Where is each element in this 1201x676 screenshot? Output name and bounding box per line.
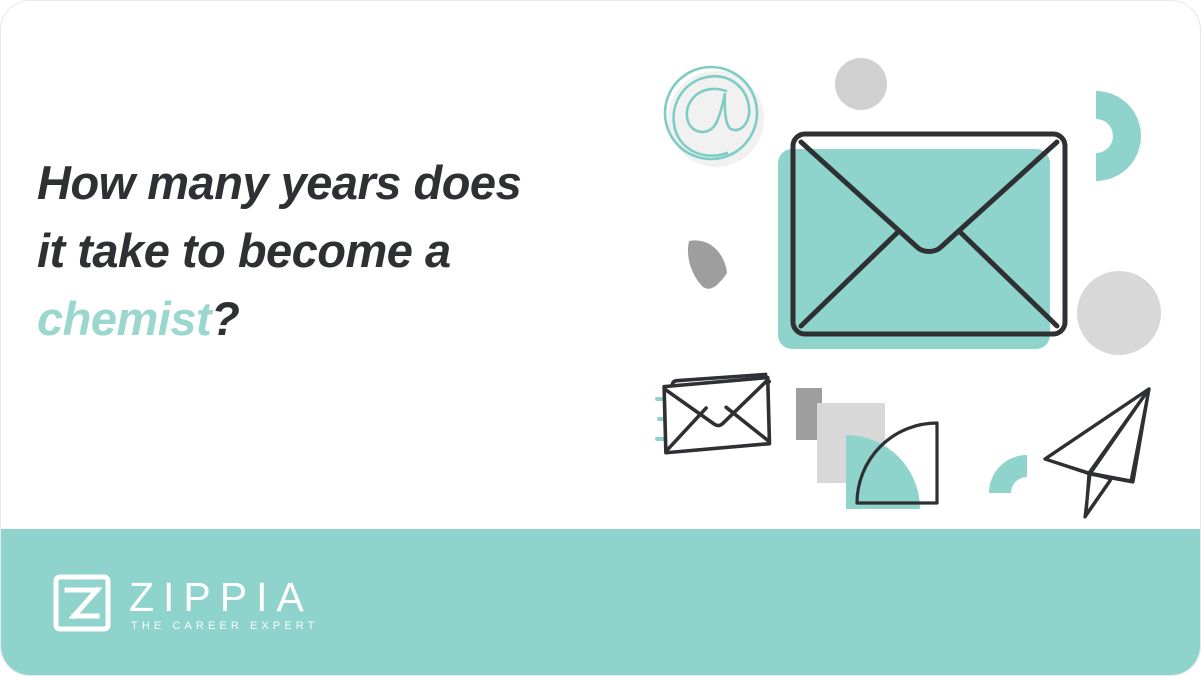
email-illustration: [641, 41, 1201, 521]
gray-dot-top-icon: [835, 58, 887, 110]
paper-plane-icon: [1045, 389, 1149, 515]
small-envelope-outline-icon: [660, 378, 773, 453]
main-envelope-fill: [778, 149, 1050, 349]
headline-line-1: How many years does: [37, 149, 637, 217]
zippia-logo[interactable]: ZIPPIA THE CAREER EXPERT: [53, 571, 318, 635]
headline-line-3: chemist?: [37, 285, 637, 353]
at-symbol-backdrop-circle: [668, 71, 764, 167]
teal-elbow-arc-icon: [989, 455, 1027, 493]
promo-card: How many years does it take to become a …: [0, 0, 1201, 676]
zippia-tagline: THE CAREER EXPERT: [129, 619, 318, 633]
gray-petal-wedge-icon: [688, 240, 727, 288]
headline-line-2: it take to become a: [37, 217, 637, 285]
zippia-brand-name: ZIPPIA: [129, 576, 318, 618]
zippia-z-mark-icon: [53, 574, 111, 632]
page-title: How many years does it take to become a …: [37, 149, 637, 353]
headline-accent-word: chemist: [37, 292, 211, 345]
teal-c-arc-icon: [1096, 91, 1141, 181]
zippia-logo-text: ZIPPIA THE CAREER EXPERT: [129, 574, 318, 633]
headline-question-mark: ?: [211, 292, 239, 345]
gray-circle-right-icon: [1077, 271, 1161, 355]
